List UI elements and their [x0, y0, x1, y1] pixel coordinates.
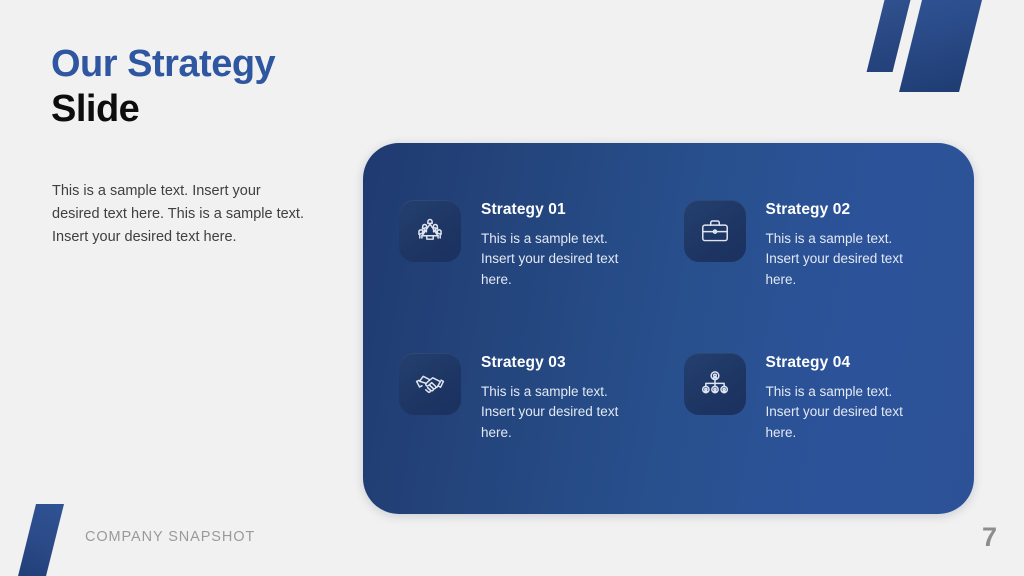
strategy-item-01-text: Strategy 01 This is a sample text. Inser… — [481, 200, 633, 290]
page-title-line-2: Slide — [51, 86, 351, 134]
footer-label: COMPANY SNAPSHOT — [85, 529, 255, 545]
decorative-bar-bottom-left — [17, 504, 64, 576]
strategy-item-01[interactable]: Strategy 01 This is a sample text. Inser… — [399, 200, 662, 321]
strategy-panel: Strategy 01 This is a sample text. Inser… — [363, 143, 974, 514]
strategy-item-04[interactable]: Strategy 04 This is a sample text. Inser… — [684, 353, 947, 474]
strategy-item-02-description: This is a sample text. Insert your desir… — [766, 229, 918, 290]
strategy-grid: Strategy 01 This is a sample text. Inser… — [399, 200, 946, 474]
strategy-item-01-description: This is a sample text. Insert your desir… — [481, 229, 633, 290]
org-chart-icon — [684, 353, 746, 415]
strategy-item-03[interactable]: Strategy 03 This is a sample text. Inser… — [399, 353, 662, 474]
handshake-icon — [399, 353, 461, 415]
strategy-item-02-title: Strategy 02 — [766, 201, 918, 219]
strategy-item-02-text: Strategy 02 This is a sample text. Inser… — [766, 200, 918, 290]
page-title: Our Strategy Slide — [51, 44, 351, 133]
strategy-item-03-title: Strategy 03 — [481, 354, 633, 372]
strategy-item-04-description: This is a sample text. Insert your desir… — [766, 382, 918, 443]
strategy-item-03-description: This is a sample text. Insert your desir… — [481, 382, 633, 443]
decorative-bar-top-small — [867, 0, 912, 72]
slide-canvas: Our Strategy Slide This is a sample text… — [0, 0, 1024, 576]
strategy-item-03-text: Strategy 03 This is a sample text. Inser… — [481, 353, 633, 443]
decorative-bar-top-large — [899, 0, 984, 92]
strategy-item-01-title: Strategy 01 — [481, 201, 633, 219]
page-number: 7 — [982, 522, 997, 553]
strategy-item-04-title: Strategy 04 — [766, 354, 918, 372]
strategy-item-02[interactable]: Strategy 02 This is a sample text. Inser… — [684, 200, 947, 321]
intro-paragraph: This is a sample text. Insert your desir… — [52, 180, 304, 249]
strategy-item-04-text: Strategy 04 This is a sample text. Inser… — [766, 353, 918, 443]
briefcase-icon — [684, 200, 746, 262]
page-title-line-1: Our Strategy — [51, 44, 351, 86]
conference-table-icon — [399, 200, 461, 262]
